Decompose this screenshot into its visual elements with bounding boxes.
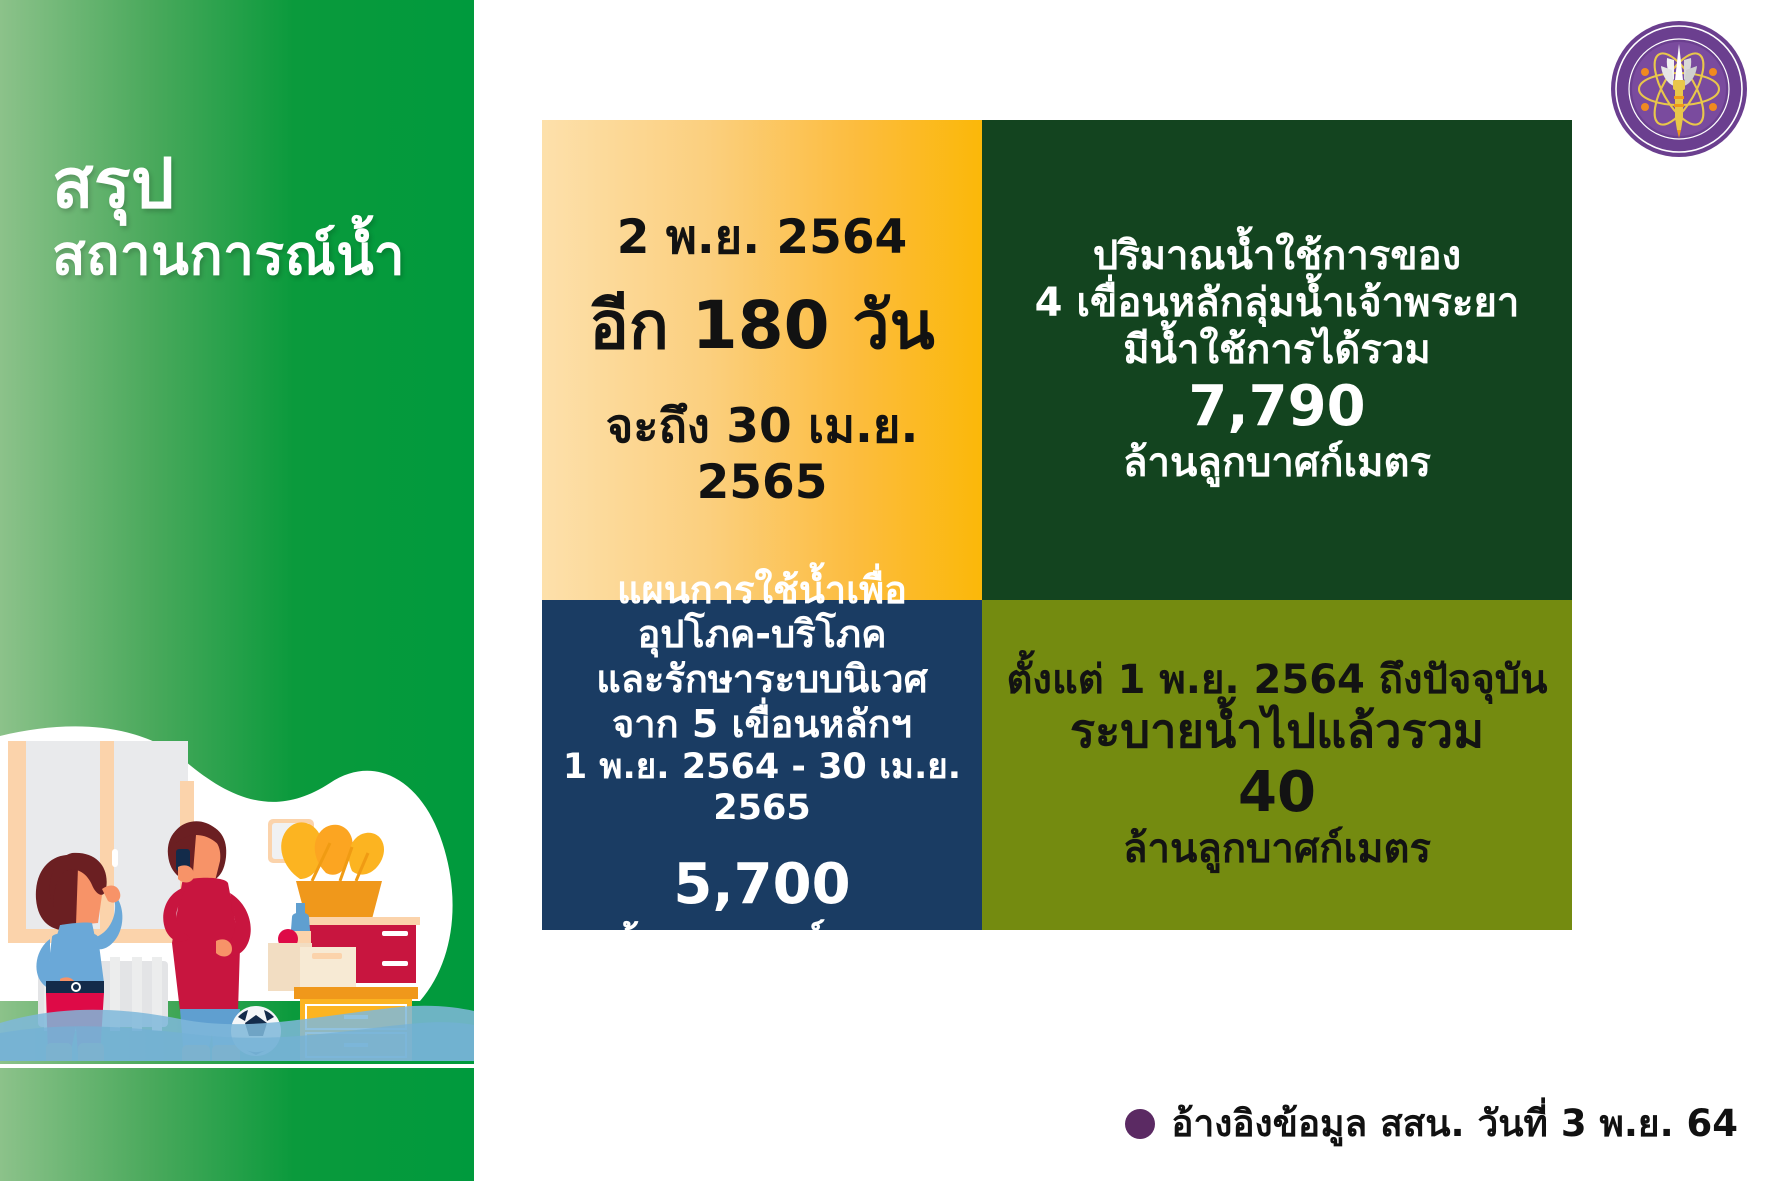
water-plan-unit: ล้านลูกบาศก์เมตร [616,918,909,963]
available-water-line2: 4 เขื่อนหลักลุ่มน้ำเจ้าพระยา [1035,280,1520,327]
available-water-unit: ล้านลูกบาศก์เมตร [1123,440,1431,487]
available-water-line3: มีน้ำใช้การได้รวม [1123,327,1430,374]
available-water-line1: ปริมาณน้ำใช้การของ [1093,233,1461,280]
released-water-line1: ตั้งแต่ 1 พ.ย. 2564 ถึงปัจจุบัน [1006,657,1547,704]
card-countdown: 2 พ.ย. 2564 อีก 180 วัน จะถึง 30 เม.ย. 2… [542,120,982,600]
available-water-value: 7,790 [1188,374,1365,440]
left-green-panel: สรุป สถานการณ์น้ำ [0,0,474,1181]
released-water-value: 40 [1238,760,1316,826]
title-line-2: สถานการณ์น้ำ [52,227,452,284]
stats-quadrant-grid: 2 พ.ย. 2564 อีก 180 วัน จะถึง 30 เม.ย. 2… [542,120,1572,930]
flood-illustration [0,631,474,1061]
source-text: อ้างอิงข้อมูล สสน. วันที่ 3 พ.ย. 64 [1171,1094,1738,1153]
water-plan-period: 1 พ.ย. 2564 - 30 เม.ย. 2565 [556,747,968,830]
water-plan-line1: แผนการใช้น้ำเพื่ออุปโภค-บริโภค [556,568,968,658]
water-plan-line3: จาก 5 เขื่อนหลักฯ [612,702,912,747]
title-line-1: สรุป [52,150,452,221]
water-plan-line2: และรักษาระบบนิเวศ [596,657,927,702]
panel-divider [0,1064,474,1068]
card-released-water: ตั้งแต่ 1 พ.ย. 2564 ถึงปัจจุบัน ระบายน้ำ… [982,600,1572,930]
countdown-date: 2 พ.ย. 2564 [617,210,907,265]
countdown-until: จะถึง 30 เม.ย. 2565 [556,399,968,510]
released-water-unit: ล้านลูกบาศก์เมตร [1123,826,1431,873]
ministry-seal-logo [1604,14,1754,164]
page-title: สรุป สถานการณ์น้ำ [52,150,452,284]
source-footer: อ้างอิงข้อมูล สสน. วันที่ 3 พ.ย. 64 [1125,1094,1738,1153]
released-water-line2: ระบายน้ำไปแล้วรวม [1070,704,1484,759]
water-plan-value: 5,700 [673,852,850,918]
countdown-days: อีก 180 วัน [589,287,935,365]
card-available-water: ปริมาณน้ำใช้การของ 4 เขื่อนหลักลุ่มน้ำเจ… [982,120,1572,600]
bullet-dot-icon [1125,1109,1155,1139]
card-water-plan: แผนการใช้น้ำเพื่ออุปโภค-บริโภค และรักษาร… [542,600,982,930]
